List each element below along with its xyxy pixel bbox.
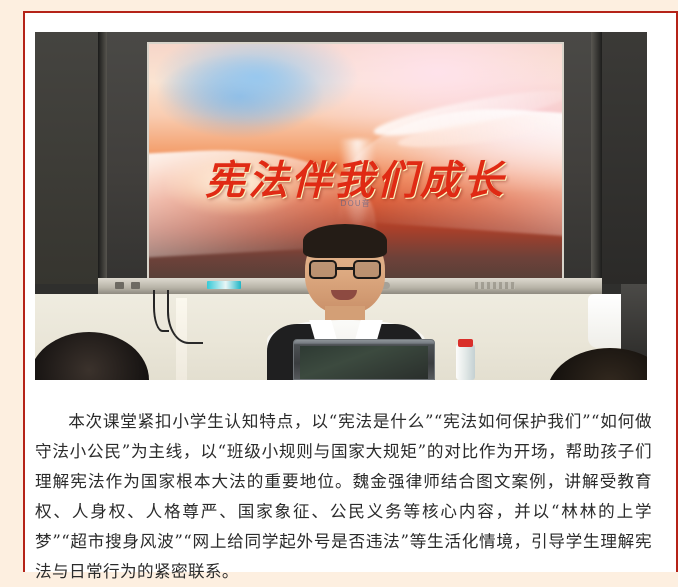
wall-left-panel [35,32,98,284]
caption-paragraph: 本次课堂紧扣小学生认知特点，以“宪法是什么”“宪法如何保护我们”“如何做守法小公… [35,407,652,587]
projector-screen-watermark: DOU音 [149,198,562,209]
board-frame-left [98,32,107,284]
classroom-lecture-photo: 宪法伴我们成长 DOU音 [35,32,647,380]
wall-right-panel [602,32,647,284]
bezel-sticker [207,281,241,289]
glasses-lens-left [309,260,337,279]
board-frame-right [591,32,602,284]
bezel-brand-logo [475,282,515,289]
glasses-lens-right [353,260,381,279]
lecturer-glasses [309,260,381,279]
lecturer-hair [303,224,387,258]
side-cabinet [621,284,647,358]
glasses-bridge [337,267,353,270]
bezel-port-b [131,282,140,289]
bezel-port-a [115,282,124,289]
water-bottle-cap [458,339,473,347]
laptop [293,339,435,380]
article-card: 宪法伴我们成长 DOU音 [23,11,678,572]
water-bottle [456,344,475,380]
